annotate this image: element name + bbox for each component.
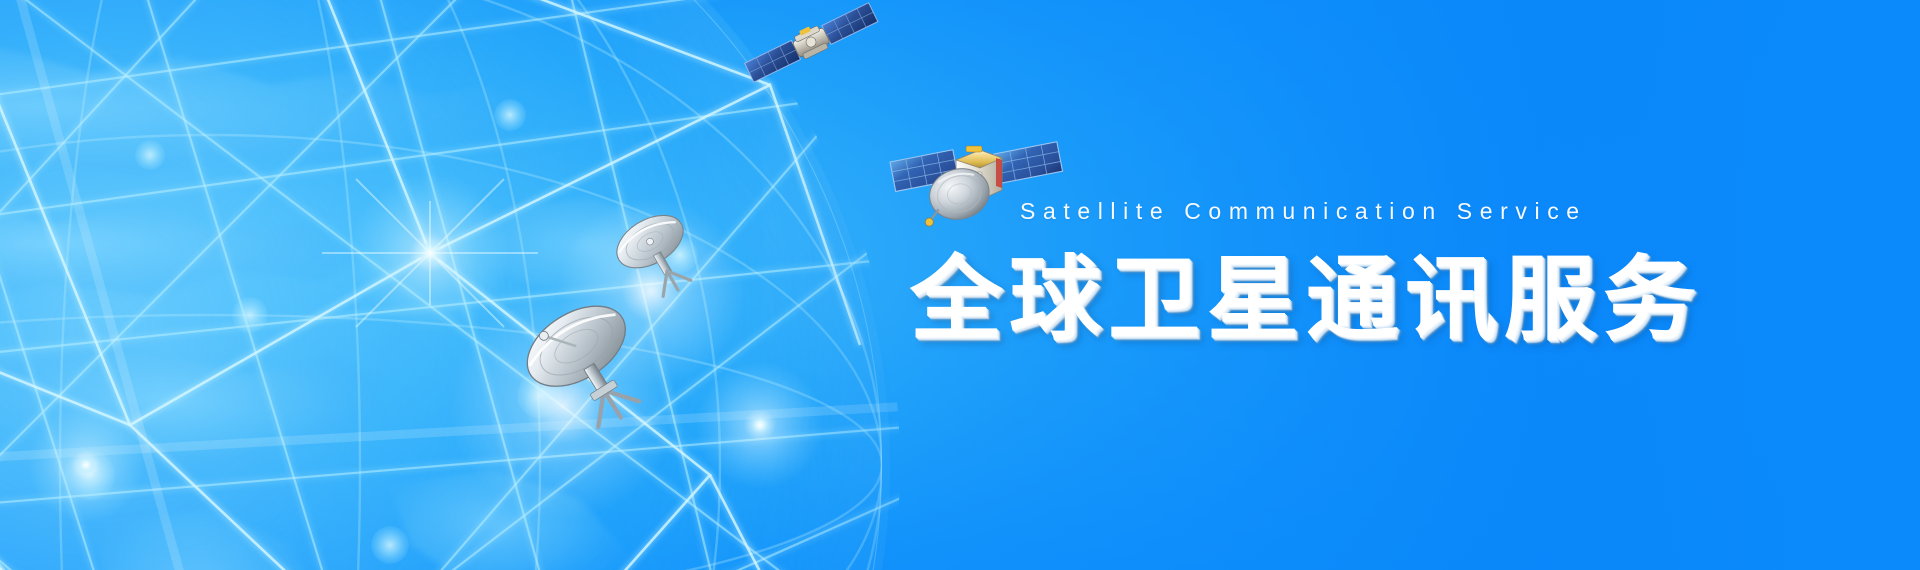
satellite-dish-icon-large <box>494 288 676 444</box>
hero-headline-zh: 全球卫星通讯服务 <box>910 248 1880 352</box>
hero-text-block: Satellite Communication Service 全球卫星通讯服务 <box>1020 196 1880 352</box>
banner-hero: Satellite Communication Service 全球卫星通讯服务 <box>0 0 1920 570</box>
hero-subtitle-en: Satellite Communication Service <box>1020 196 1880 226</box>
satellite-icon-small <box>736 0 886 90</box>
